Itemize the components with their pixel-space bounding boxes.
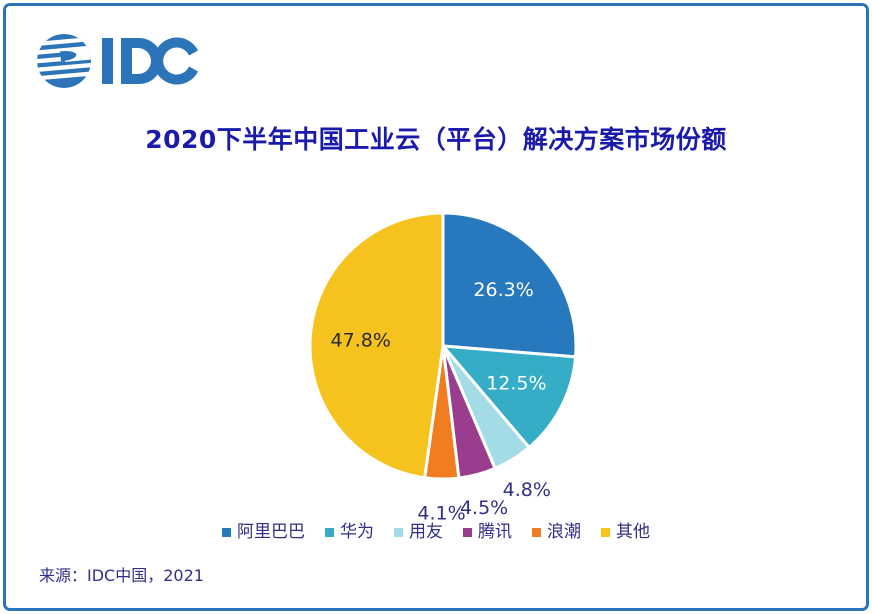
pie-slice-label: 12.5% bbox=[486, 373, 546, 395]
pie-chart-svg: 26.3%12.5%4.8%4.5%4.1%47.8% bbox=[310, 213, 576, 479]
legend-swatch-icon bbox=[222, 528, 231, 537]
pie-slice-label: 4.5% bbox=[460, 497, 508, 519]
legend-item-label: 浪潮 bbox=[547, 524, 581, 541]
legend-swatch-icon bbox=[601, 528, 610, 537]
legend-swatch-icon bbox=[325, 528, 334, 537]
legend-item[interactable]: 阿里巴巴 bbox=[222, 524, 305, 541]
legend-item-label: 其他 bbox=[616, 524, 650, 541]
legend-item[interactable]: 华为 bbox=[325, 524, 374, 541]
legend-swatch-icon bbox=[532, 528, 541, 537]
legend-item-label: 腾讯 bbox=[478, 524, 512, 541]
legend-item-label: 用友 bbox=[409, 524, 443, 541]
chart-legend: 阿里巴巴华为用友腾讯浪潮其他 bbox=[6, 524, 866, 541]
page-title: 2020下半年中国工业云（平台）解决方案市场份额 bbox=[6, 120, 866, 156]
idc-logo bbox=[35, 32, 225, 90]
legend-item[interactable]: 用友 bbox=[394, 524, 443, 541]
idc-logo-artwork bbox=[35, 32, 223, 90]
legend-item[interactable]: 其他 bbox=[601, 524, 650, 541]
legend-item-label: 华为 bbox=[340, 524, 374, 541]
pie-chart: 26.3%12.5%4.8%4.5%4.1%47.8% bbox=[310, 213, 576, 479]
legend-item-label: 阿里巴巴 bbox=[237, 524, 305, 541]
pie-slice-label: 4.8% bbox=[503, 479, 551, 501]
globe-icon bbox=[35, 34, 100, 88]
chart-card: 2020下半年中国工业云（平台）解决方案市场份额 26.3%12.5%4.8%4… bbox=[3, 3, 869, 611]
pie-slice-label: 47.8% bbox=[331, 329, 391, 351]
source-note: 来源：IDC中国，2021 bbox=[39, 562, 204, 586]
legend-item[interactable]: 腾讯 bbox=[463, 524, 512, 541]
legend-item[interactable]: 浪潮 bbox=[532, 524, 581, 541]
idc-wordmark bbox=[102, 38, 198, 85]
pie-slice-label: 26.3% bbox=[473, 279, 533, 301]
legend-swatch-icon bbox=[394, 528, 403, 537]
legend-swatch-icon bbox=[463, 528, 472, 537]
